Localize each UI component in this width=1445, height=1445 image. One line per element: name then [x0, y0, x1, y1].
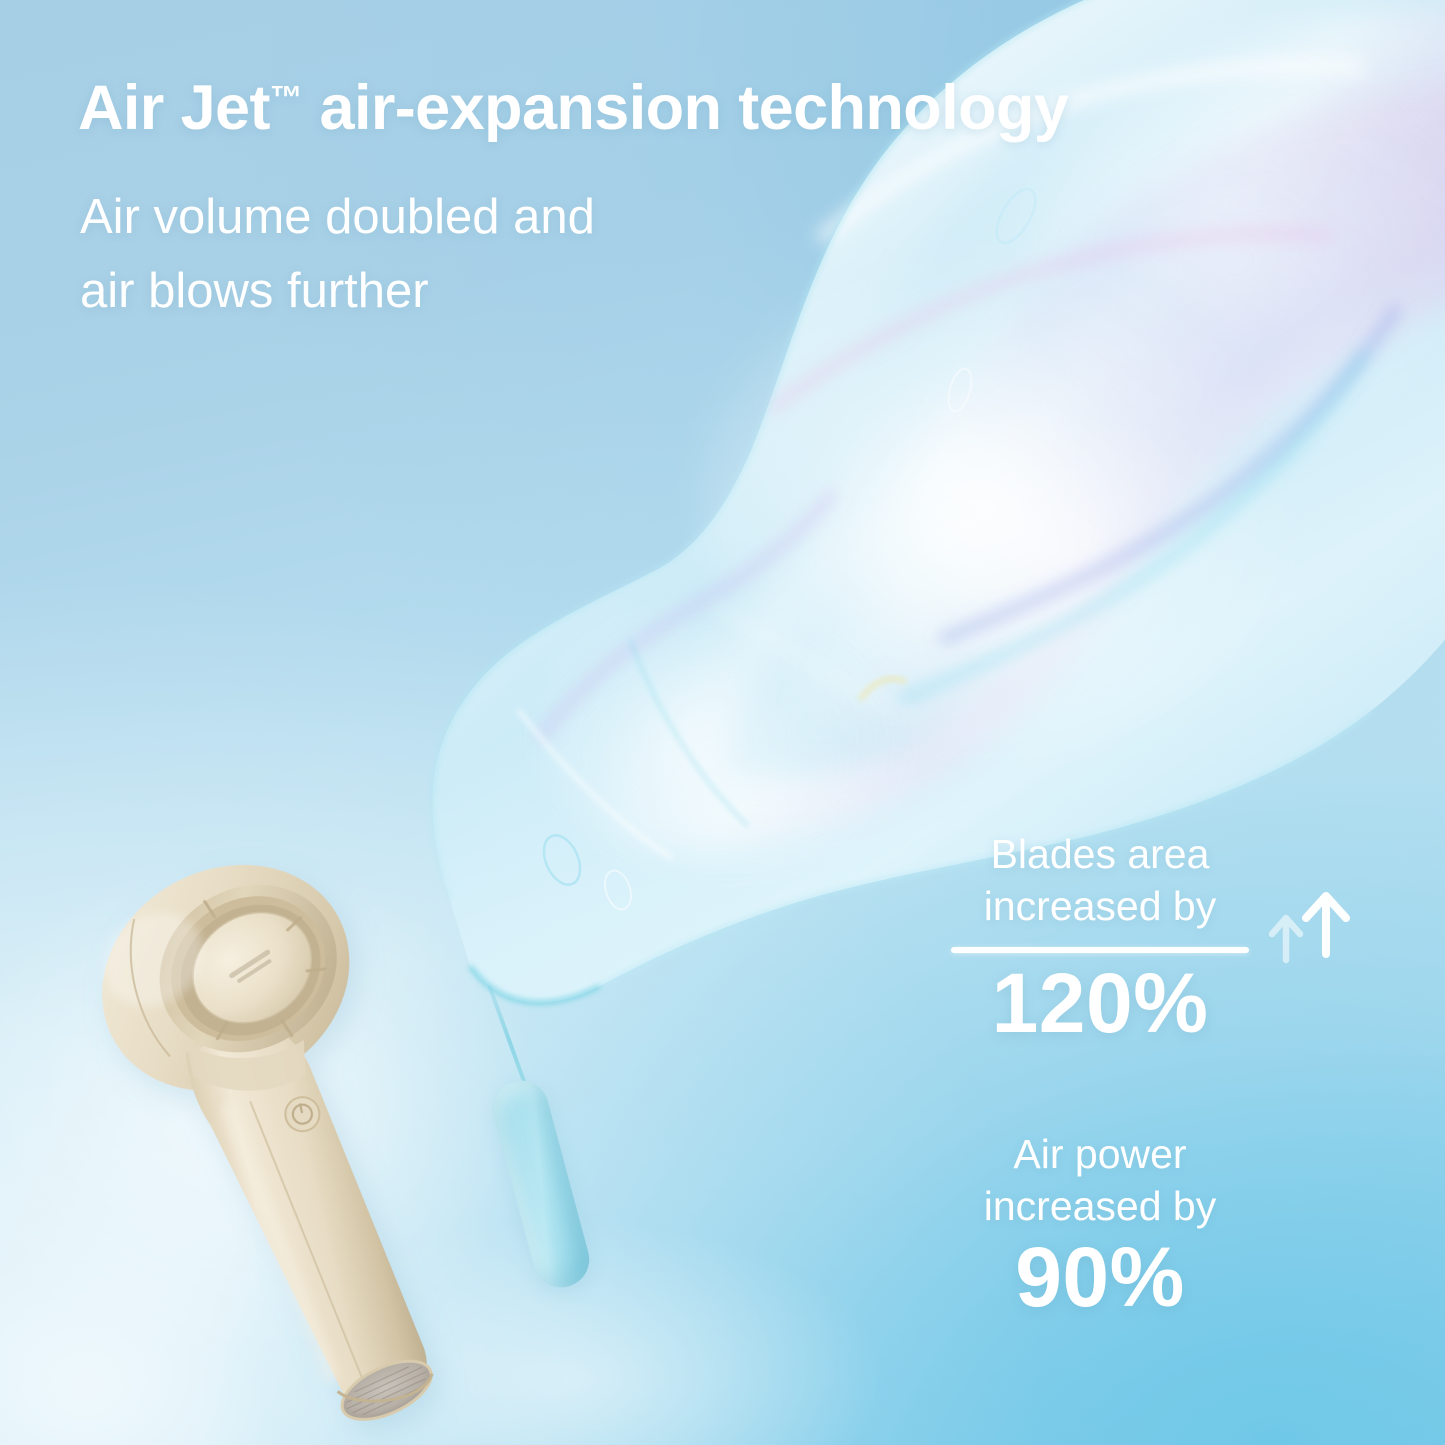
stat-divider [951, 947, 1249, 953]
page-subtitle: Air volume doubled and air blows further [80, 180, 595, 329]
handheld-fan-product-image [52, 826, 516, 1445]
stat-air-power: Air power increased by 90% [940, 1128, 1260, 1321]
subtitle-line-1: Air volume doubled and [80, 180, 595, 254]
stat-caption-line-2: increased by [940, 1180, 1260, 1232]
trademark-symbol: ™ [270, 79, 303, 116]
teal-capsule-graphic [487, 1074, 596, 1293]
subtitle-line-2: air blows further [80, 254, 595, 328]
product-marketing-image: Air Jet™ air-expansion technology Air vo… [0, 0, 1445, 1445]
headline-part-1: Air Jet [78, 73, 270, 143]
stat-blades-area: Blades area increased by 120% [940, 828, 1260, 1047]
stat-caption-line-1: Air power [940, 1128, 1260, 1180]
stat-caption-line-2: increased by [940, 880, 1260, 932]
double-up-arrow-icon [1260, 884, 1360, 968]
stat-value: 120% [940, 959, 1260, 1047]
page-title: Air Jet™ air-expansion technology [78, 72, 1068, 144]
stat-value: 90% [940, 1233, 1260, 1321]
stat-caption-line-1: Blades area [940, 828, 1260, 880]
headline-part-2: air-expansion technology [303, 73, 1069, 143]
tail-thread [487, 984, 527, 1084]
